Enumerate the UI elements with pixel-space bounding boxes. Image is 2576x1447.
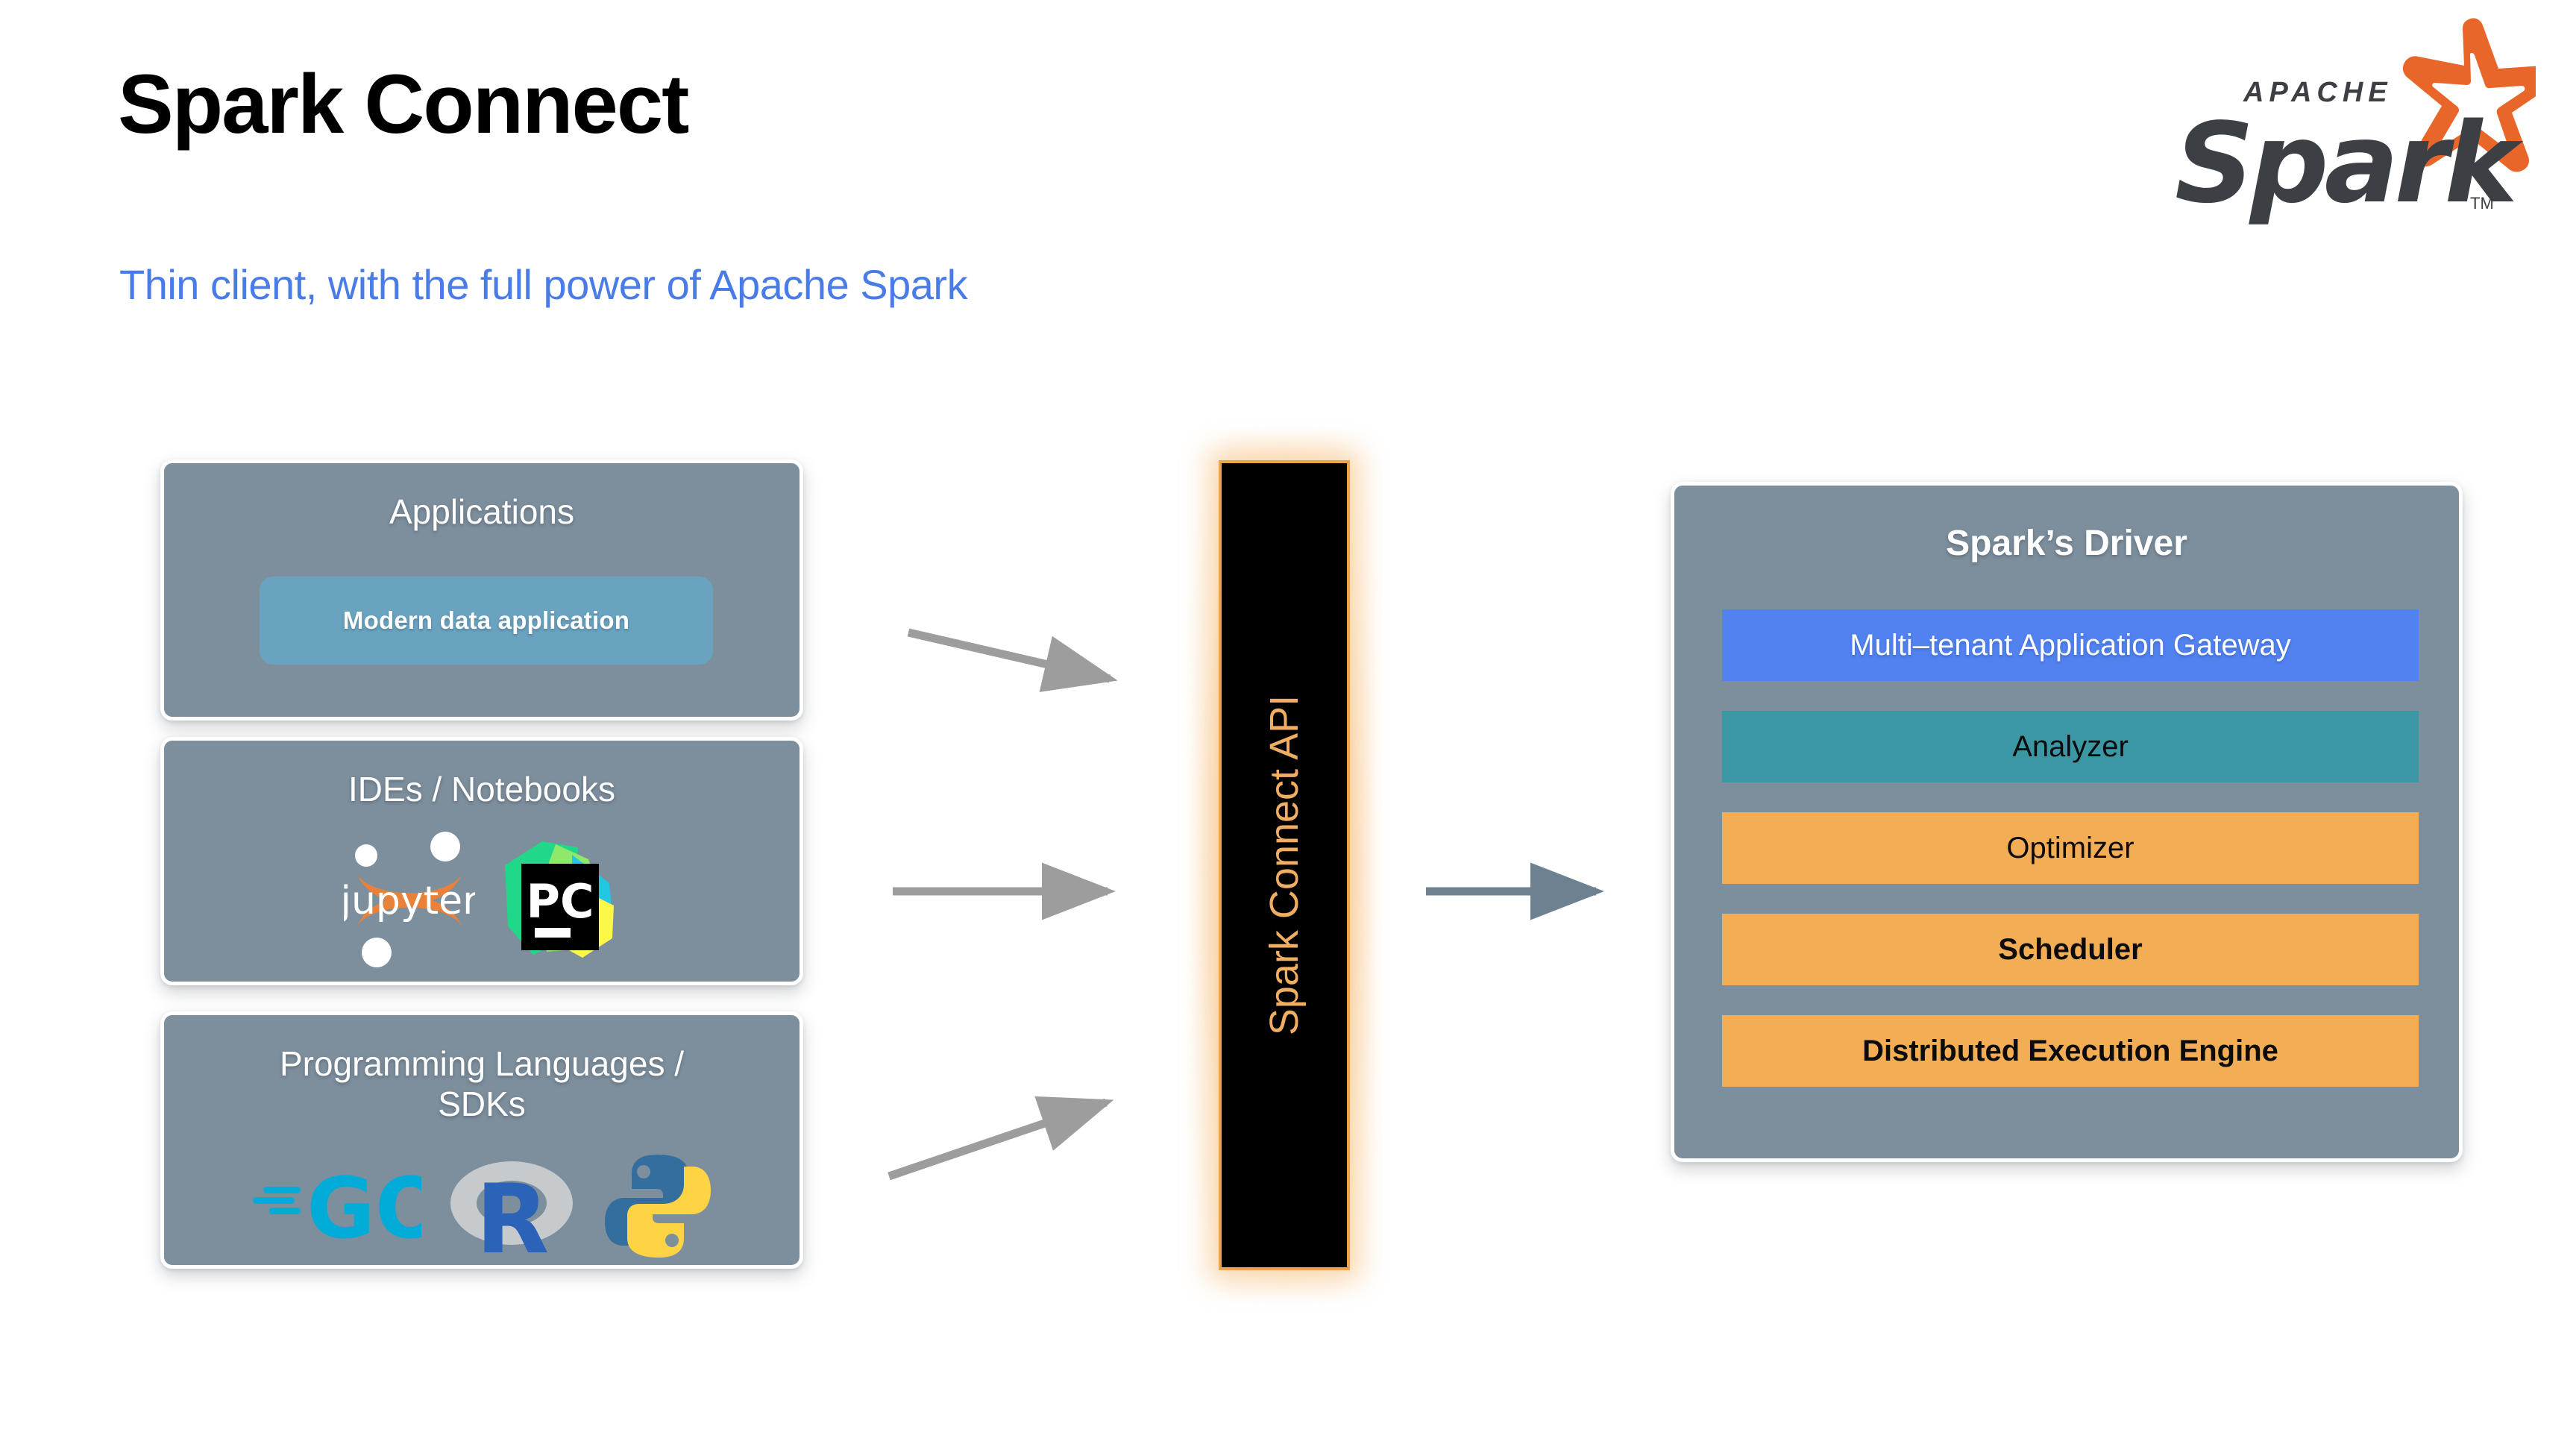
jupyter-wordmark: jupyter: [344, 879, 475, 923]
language-logo-row: GO R: [164, 1148, 799, 1267]
card-ides-notebooks-title: IDEs / Notebooks: [164, 769, 799, 809]
spark-driver-panel[interactable]: Spark’s Driver Multi–tenant Application …: [1671, 482, 2463, 1162]
r-logo: R: [448, 1151, 575, 1265]
go-wordmark: GO: [307, 1161, 421, 1258]
arrow-applications-to-api: [908, 633, 1110, 679]
apache-spark-logo: APACHE Spark TM: [2133, 13, 2536, 230]
card-applications-title: Applications: [164, 492, 799, 532]
chip-modern-data-application[interactable]: Modern data application: [260, 577, 713, 665]
pycharm-logo: PC: [500, 837, 620, 966]
card-programming-languages-title: Programming Languages / SDKs: [164, 1043, 799, 1125]
card-programming-languages-sdks[interactable]: Programming Languages / SDKs GO: [160, 1011, 803, 1269]
spark-driver-title: Spark’s Driver: [1674, 523, 2459, 565]
r-wordmark: R: [476, 1164, 550, 1261]
driver-row-distributed-execution-engine[interactable]: Distributed Execution Engine: [1722, 1015, 2419, 1087]
driver-row-list: Multi–tenant Application Gateway Analyze…: [1722, 609, 2419, 1117]
card-applications[interactable]: Applications Modern data application: [160, 459, 803, 721]
spark-connect-api-label: Spark Connect API: [1261, 695, 1307, 1035]
card-languages-title-line2: SDKs: [438, 1085, 526, 1123]
card-ides-notebooks[interactable]: IDEs / Notebooks jupyter: [160, 737, 803, 985]
driver-row-optimizer[interactable]: Optimizer: [1722, 812, 2419, 884]
page-title: Spark Connect: [118, 58, 688, 150]
driver-row-scheduler[interactable]: Scheduler: [1722, 914, 2419, 985]
logo-trademark: TM: [2470, 194, 2494, 213]
python-logo: [602, 1150, 714, 1266]
pycharm-wordmark: PC: [527, 874, 594, 929]
jupyter-logo: jupyter: [344, 830, 475, 973]
spark-connect-api-bar[interactable]: Spark Connect API: [1219, 460, 1350, 1270]
card-languages-title-line1: Programming Languages /: [280, 1044, 684, 1083]
page-subtitle: Thin client, with the full power of Apac…: [119, 260, 967, 310]
ide-logo-row: jupyter PC: [164, 830, 799, 972]
arrow-languages-to-api: [889, 1102, 1106, 1176]
driver-row-gateway[interactable]: Multi–tenant Application Gateway: [1722, 609, 2419, 681]
driver-row-analyzer[interactable]: Analyzer: [1722, 711, 2419, 782]
slide-canvas: Spark Connect Thin client, with the full…: [0, 0, 2576, 1447]
go-logo: GO: [250, 1154, 421, 1262]
